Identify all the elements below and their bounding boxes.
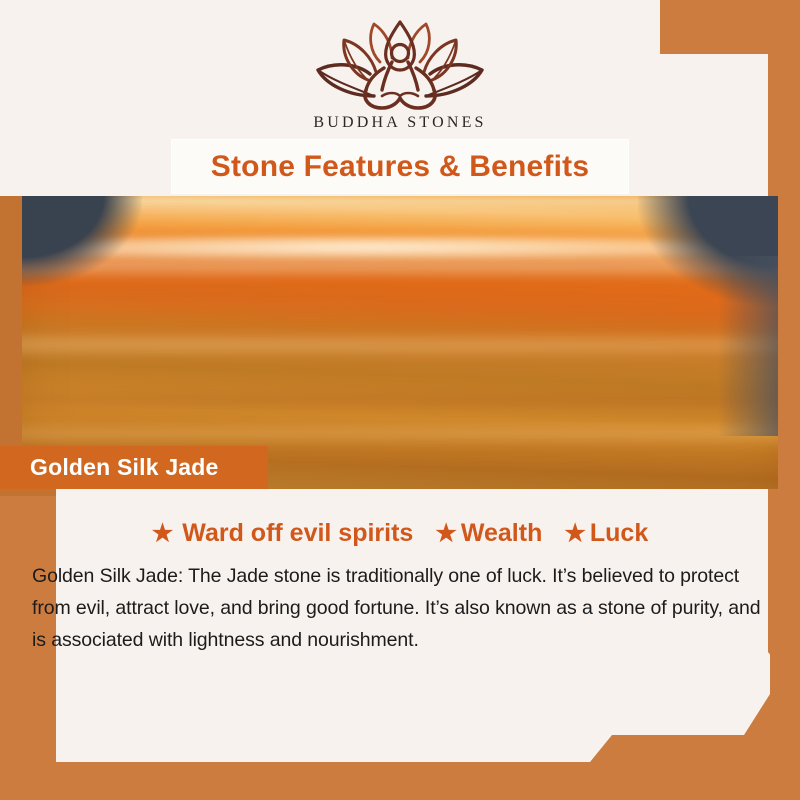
- photo-backdrop-right-edge: [718, 256, 778, 436]
- stone-vein: [22, 393, 778, 409]
- brand-name: BUDDHA STONES: [0, 114, 800, 132]
- brand-logo: BUDDHA STONES: [0, 18, 800, 132]
- photo-backdrop-left: [22, 196, 142, 286]
- benefit-label: Luck: [590, 519, 648, 548]
- benefit-item: ★ Ward off evil spirits: [152, 519, 414, 548]
- stone-vein: [22, 428, 778, 440]
- star-icon: ★: [435, 522, 457, 546]
- star-icon: ★: [564, 522, 586, 546]
- stone-name-label: Golden Silk Jade: [0, 454, 219, 481]
- infographic-page: BUDDHA STONES Stone Features & Benefits …: [0, 0, 800, 800]
- benefit-label: Wealth: [461, 519, 543, 548]
- stone-description: Golden Silk Jade: The Jade stone is trad…: [32, 560, 774, 656]
- star-icon: ★: [152, 522, 174, 546]
- benefits-row: ★ Ward off evil spirits ★ Wealth ★ Luck: [0, 519, 800, 548]
- page-title: Stone Features & Benefits: [211, 150, 589, 184]
- headline-banner: Stone Features & Benefits: [172, 140, 628, 193]
- benefit-label: Ward off evil spirits: [182, 519, 413, 548]
- benefit-item: ★ Luck: [564, 519, 648, 548]
- benefit-item: ★ Wealth: [435, 519, 542, 548]
- stone-name-badge: Golden Silk Jade: [0, 446, 268, 489]
- stone-vein: [22, 338, 778, 352]
- lotus-meditation-icon: [312, 18, 488, 110]
